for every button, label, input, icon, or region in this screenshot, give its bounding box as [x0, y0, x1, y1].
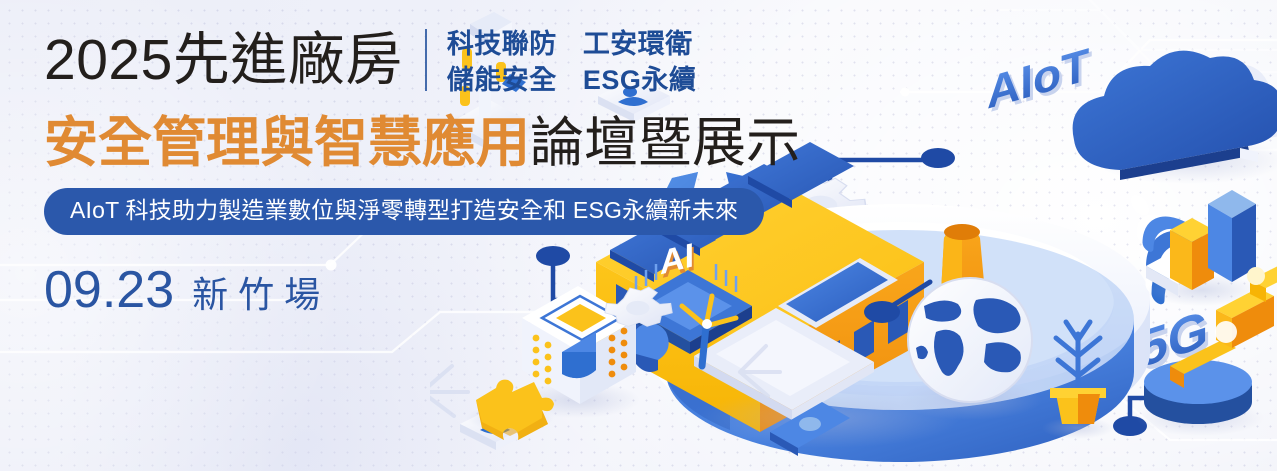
- headline-row: 2025先進廠房 科技聯防 工安環衛 儲能安全 ESG永續: [44, 22, 874, 106]
- tagline-pill: AIoT 科技助力製造業數位與淨零轉型打造安全和 ESG永續新未來: [44, 188, 764, 235]
- subtitle-heading-highlight: 安全管理與智慧應用: [44, 113, 530, 173]
- event-venue: 新竹場: [192, 273, 330, 317]
- title-divider-wrap: [425, 22, 427, 98]
- topic-row-1: 科技聯防 工安環衛: [447, 26, 697, 62]
- subtitle-heading: 安全管理與智慧應用論壇暨展示: [44, 110, 874, 176]
- event-banner: AIoT AIoT 5G 5G: [0, 0, 1277, 471]
- aiot-3d-label: AIoT AIoT: [987, 37, 1092, 122]
- event-date: 09.23: [44, 261, 174, 319]
- banner-content: 2025先進廠房 科技聯防 工安環衛 儲能安全 ESG永續 安全管理與智慧應用論…: [44, 22, 874, 319]
- topic-keywords: 科技聯防 工安環衛 儲能安全 ESG永續: [447, 22, 697, 100]
- subtitle-heading-plain: 論壇暨展示: [530, 113, 800, 173]
- topic-keyword-3: 儲能安全: [447, 62, 557, 98]
- topic-keyword-2: 工安環衛: [583, 26, 693, 62]
- page-title: 2025先進廠房: [44, 22, 403, 98]
- cloud-object: [1073, 51, 1277, 184]
- event-date-row: 09.23 新竹場: [44, 261, 874, 319]
- topic-keyword-1: 科技聯防: [447, 26, 557, 62]
- topic-keyword-4: ESG永續: [583, 62, 697, 98]
- topic-row-2: 儲能安全 ESG永續: [447, 62, 697, 98]
- vertical-divider: [425, 29, 427, 91]
